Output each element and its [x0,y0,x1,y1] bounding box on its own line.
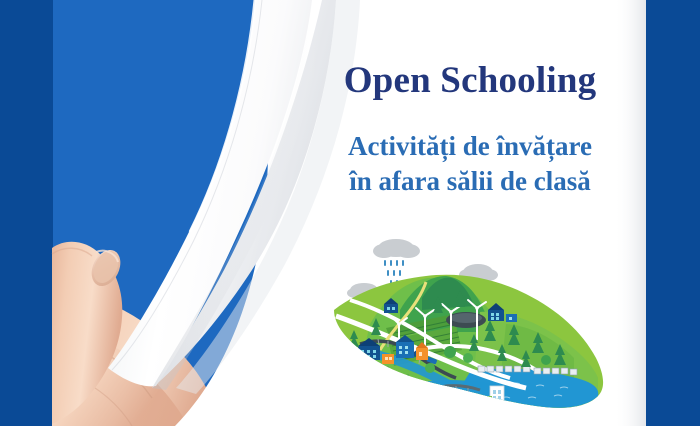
building [506,314,517,322]
page-title: Open Schooling [300,60,640,101]
round-tree [541,355,551,365]
page-subtitle-line-2: în afara sălii de clasă [300,164,640,199]
page-subtitle: Activități de învățare în afara sălii de… [300,129,640,198]
poster-canvas: Open Schooling Activități de învățare în… [0,0,700,426]
round-tree [444,346,456,358]
pine-tree [339,342,349,359]
round-tree [425,363,435,373]
poster-text-block: Open Schooling Activități de învățare în… [300,60,640,199]
sustainable-landscape-illustration [330,232,615,412]
leaf-landmass [330,262,615,412]
pine-tree [361,356,371,373]
building [382,354,394,364]
page-subtitle-line-1: Activități de învățare [300,129,640,164]
round-tree [463,353,473,363]
